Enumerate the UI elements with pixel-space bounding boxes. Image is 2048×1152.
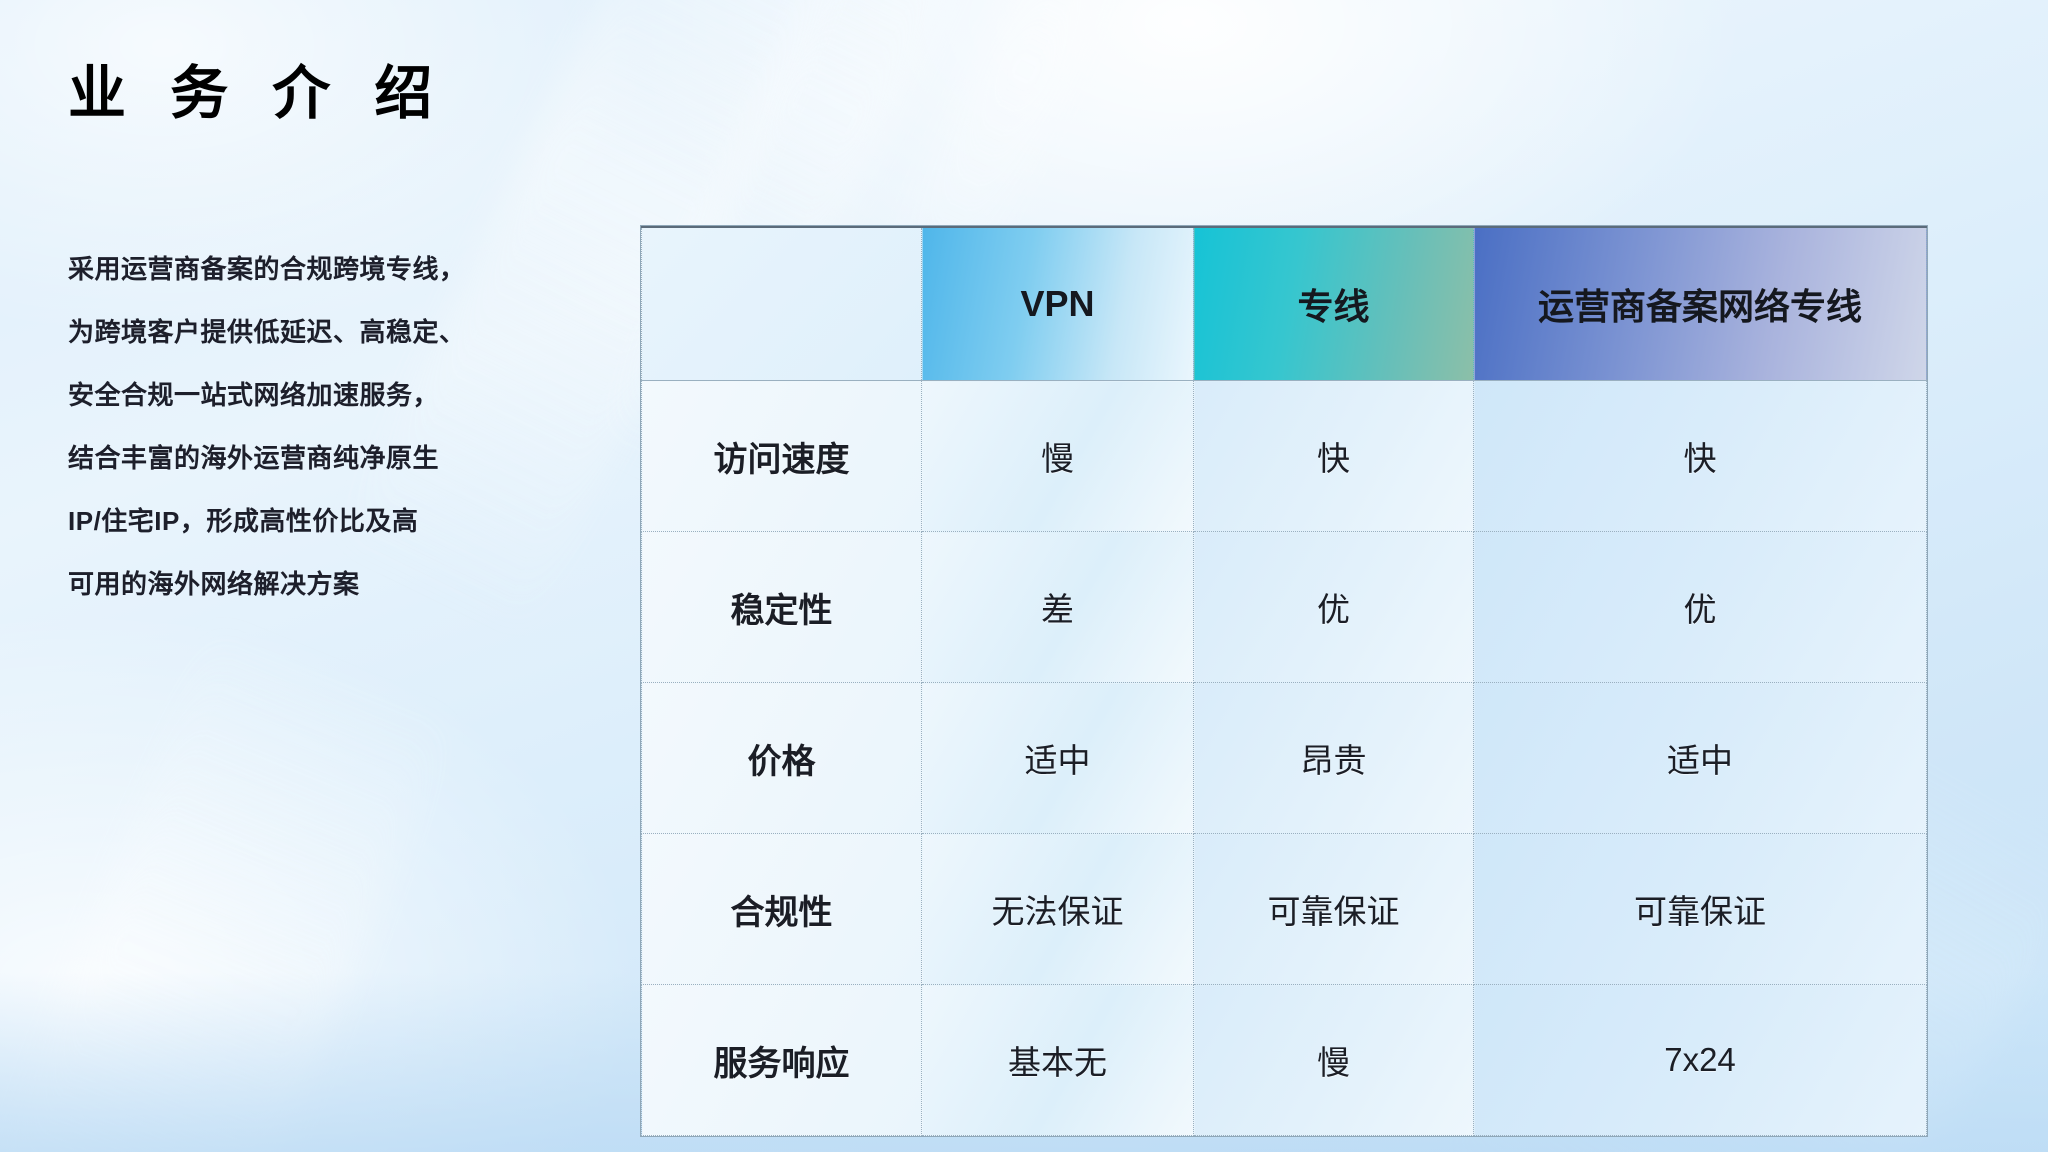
intro-line: IP/住宅IP，形成高性价比及高 (68, 490, 628, 553)
row-label-access-speed: 访问速度 (642, 381, 922, 532)
row-label-compliance: 合规性 (642, 834, 922, 985)
cell-dedicated-line: 快 (1194, 381, 1474, 532)
cell-vpn: 慢 (922, 381, 1194, 532)
intro-line: 可用的海外网络解决方案 (68, 553, 628, 616)
intro-paragraph: 采用运营商备案的合规跨境专线， 为跨境客户提供低延迟、高稳定、 安全合规一站式网… (68, 238, 628, 616)
table-row: 合规性 无法保证 可靠保证 可靠保证 (642, 834, 1927, 985)
intro-line: 安全合规一站式网络加速服务， (68, 364, 628, 427)
cell-dedicated-line: 慢 (1194, 985, 1474, 1136)
comparison-table: VPN 专线 运营商备案网络专线 访问速度 慢 快 快 稳定性 差 优 优 价格… (641, 226, 1927, 1136)
table-header-dedicated-line: 专线 (1194, 227, 1474, 381)
cell-isp-line: 快 (1474, 381, 1927, 532)
page-title: 业 务 介 绍 (68, 62, 446, 126)
cell-vpn: 基本无 (922, 985, 1194, 1136)
row-label-price: 价格 (642, 683, 922, 834)
slide-canvas: 业 务 介 绍 采用运营商备案的合规跨境专线， 为跨境客户提供低延迟、高稳定、 … (0, 0, 2048, 1152)
intro-line: 结合丰富的海外运营商纯净原生 (68, 427, 628, 490)
cell-vpn: 差 (922, 532, 1194, 683)
table-header-isp-registered-line: 运营商备案网络专线 (1474, 227, 1927, 381)
intro-line: 为跨境客户提供低延迟、高稳定、 (68, 301, 628, 364)
cell-isp-line: 7x24 (1474, 985, 1927, 1136)
cell-vpn: 适中 (922, 683, 1194, 834)
cell-isp-line: 可靠保证 (1474, 834, 1927, 985)
cell-vpn: 无法保证 (922, 834, 1194, 985)
table-row: 价格 适中 昂贵 适中 (642, 683, 1927, 834)
cell-dedicated-line: 可靠保证 (1194, 834, 1474, 985)
table-row: 稳定性 差 优 优 (642, 532, 1927, 683)
row-label-stability: 稳定性 (642, 532, 922, 683)
cell-isp-line: 优 (1474, 532, 1927, 683)
cell-dedicated-line: 优 (1194, 532, 1474, 683)
table-row: 服务响应 基本无 慢 7x24 (642, 985, 1927, 1136)
row-label-service-response: 服务响应 (642, 985, 922, 1136)
cell-isp-line: 适中 (1474, 683, 1927, 834)
table-row: 访问速度 慢 快 快 (642, 381, 1927, 532)
table-header-vpn: VPN (922, 227, 1194, 381)
light-streak-decoration (0, 616, 458, 1152)
cell-dedicated-line: 昂贵 (1194, 683, 1474, 834)
table-header-blank (642, 227, 922, 381)
table-header-row: VPN 专线 运营商备案网络专线 (642, 227, 1927, 381)
intro-line: 采用运营商备案的合规跨境专线， (68, 238, 628, 301)
